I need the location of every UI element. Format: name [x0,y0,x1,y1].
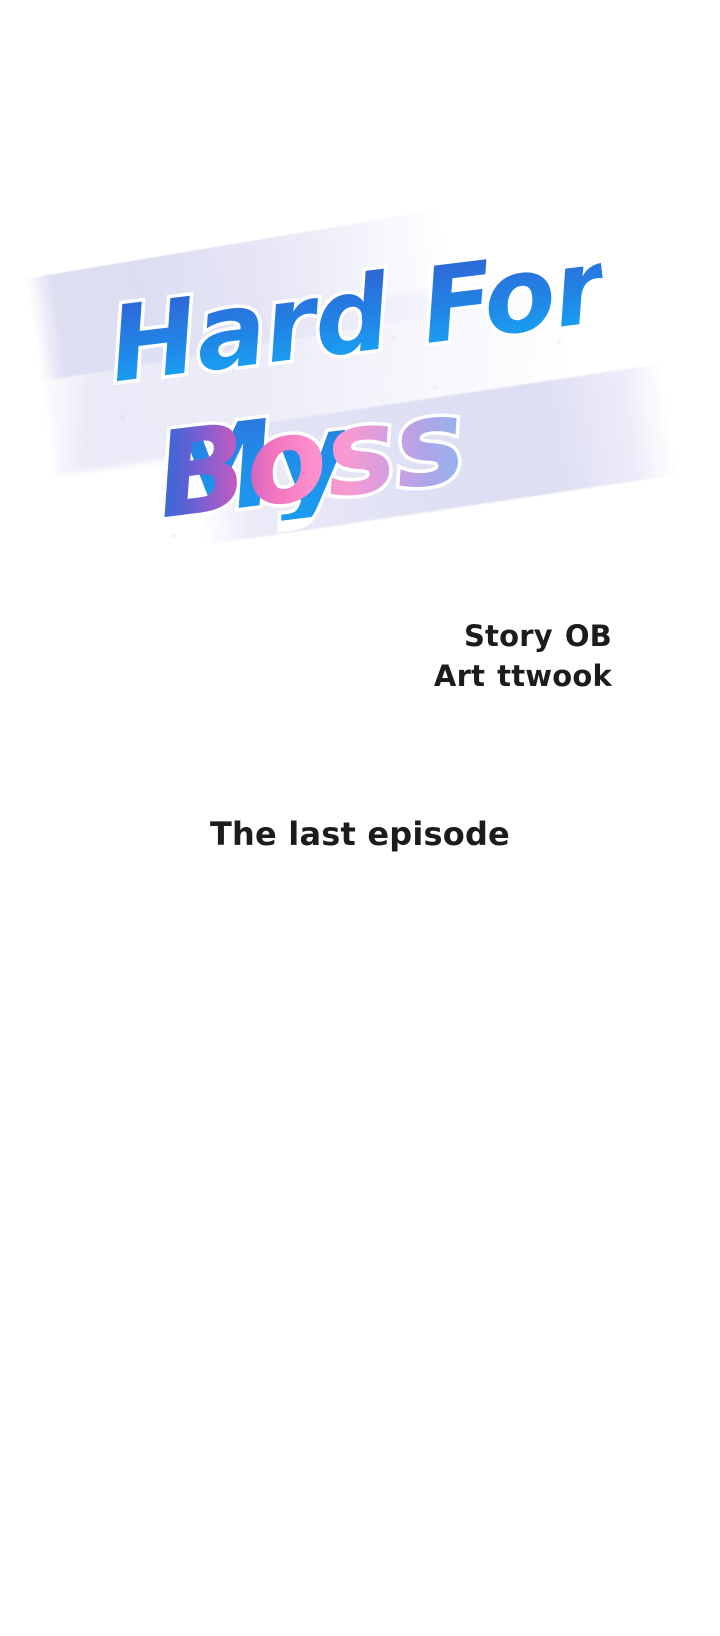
credit-role-story: Story [464,619,553,653]
credit-name-art: ttwook [497,659,612,693]
credit-role-art: Art [434,659,485,693]
credit-name-story: OB [565,619,612,653]
title-word-boss: Boss [150,381,470,536]
credits-block: StoryOB Artttwook [0,616,720,696]
webtoon-title-page: Hard For Hard For MyBoss MyBoss StoryOB … [0,0,720,1636]
credit-row-art: Artttwook [0,656,612,696]
title-line1-text: Hard For [104,233,610,397]
credit-row-story: StoryOB [0,616,612,656]
episode-label: The last episode [0,815,720,853]
title-logo: Hard For Hard For MyBoss MyBoss [0,258,720,598]
